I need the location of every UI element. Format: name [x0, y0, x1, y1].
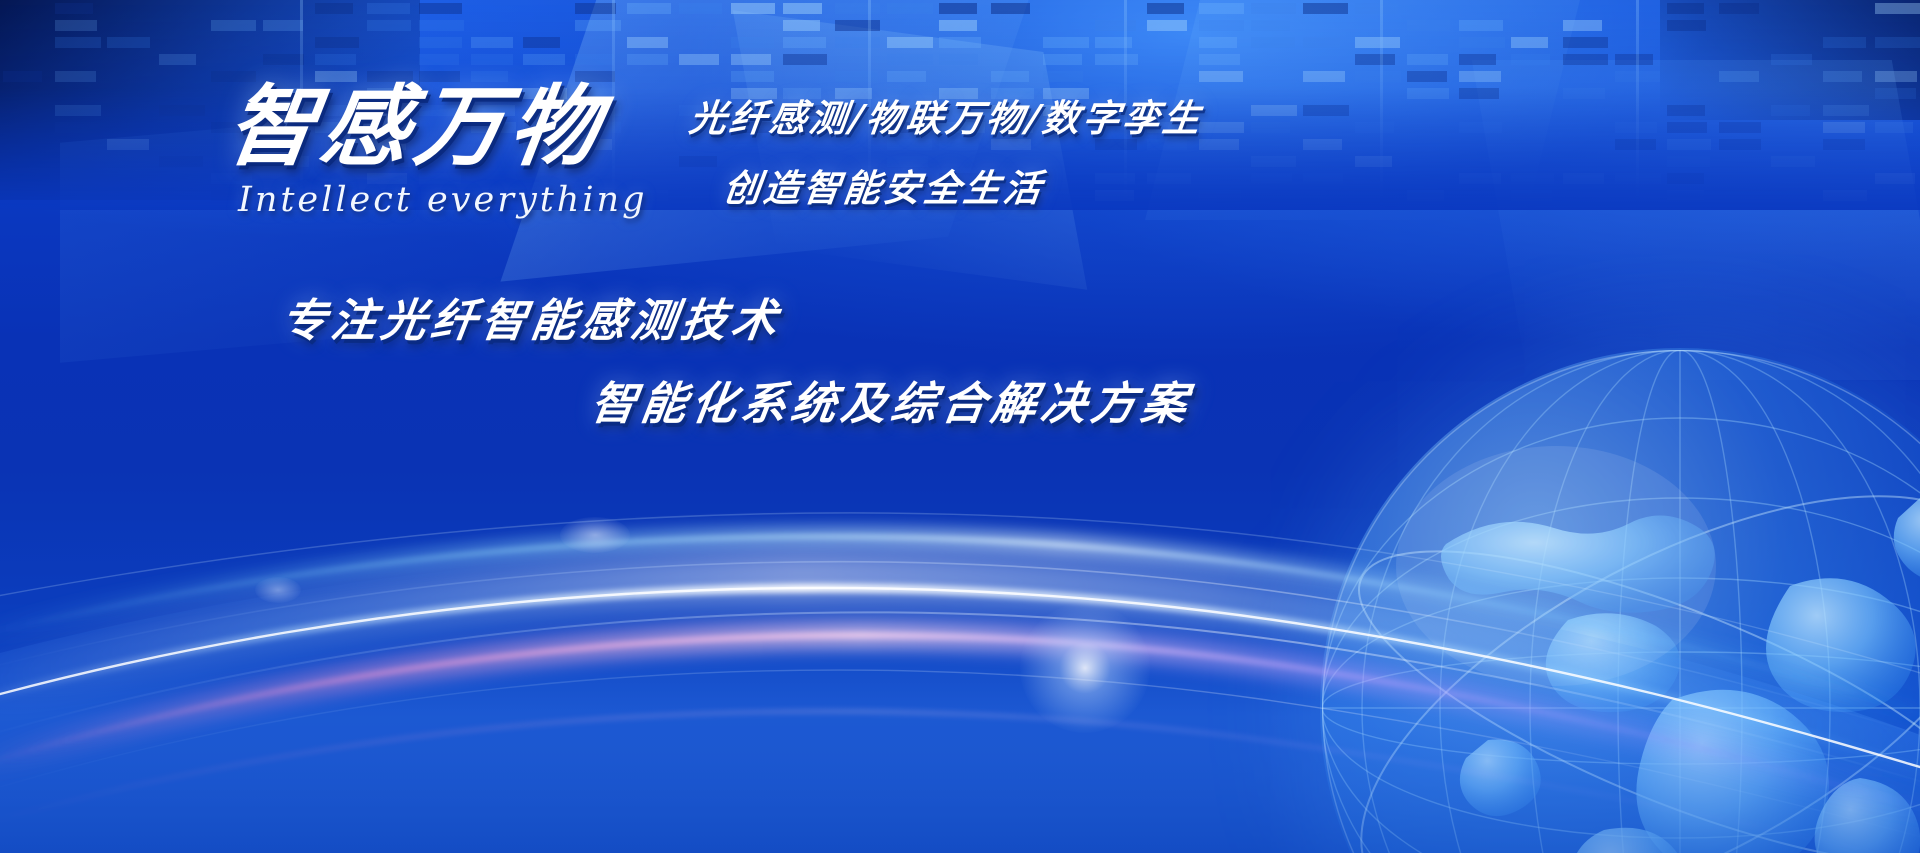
headline-chinese: 智感万物: [222, 82, 654, 172]
headline-block: 智感万物 Intellect everything 光纤感测/物联万物/数字孪生…: [228, 82, 1203, 220]
headline-english: Intellect everything: [238, 180, 648, 220]
subheadline-line-1: 专注光纤智能感测技术: [277, 284, 1196, 349]
banner-content: 智感万物 Intellect everything 光纤感测/物联万物/数字孪生…: [0, 0, 1920, 853]
slogan-line-1: 光纤感测/物联万物/数字孪生: [686, 88, 1206, 142]
slogan-column: 光纤感测/物联万物/数字孪生 创造智能安全生活: [690, 88, 1203, 212]
headline-column: 智感万物 Intellect everything: [228, 82, 648, 220]
slogan-line-2: 创造智能安全生活: [720, 158, 1206, 212]
promotional-banner: 智感万物 Intellect everything 光纤感测/物联万物/数字孪生…: [0, 0, 1920, 853]
subheadline-line-2: 智能化系统及综合解决方案: [587, 367, 1196, 432]
subheadline-block: 专注光纤智能感测技术 智能化系统及综合解决方案: [282, 284, 1192, 432]
